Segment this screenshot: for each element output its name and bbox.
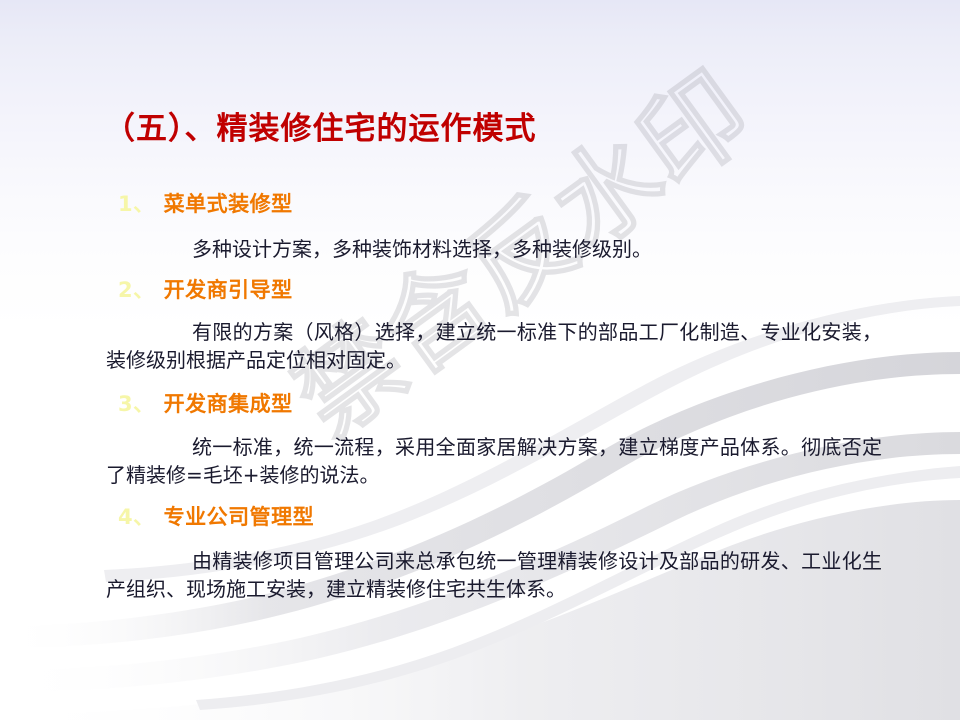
section-4-heading: 4、专业公司管理型	[0, 504, 960, 530]
section-1-body-block: 多种设计方案，多种装饰材料选择，多种装修级别。	[0, 235, 960, 263]
section-2-body-block: 有限的方案（风格）选择，建立统一标准下的部品工厂化制造、专业化安装，装修级别根据…	[0, 318, 960, 375]
section-2-heading-label: 开发商引导型	[164, 278, 293, 302]
section-1-number: 1、	[118, 192, 155, 216]
section-4-body-block: 由精装修项目管理公司来总承包统一管理精装修设计及部品的研发、工业化生产组织、现场…	[0, 547, 960, 604]
section-2-heading: 2、开发商引导型	[0, 277, 960, 303]
section-1-body: 多种设计方案，多种装饰材料选择，多种装修级别。	[0, 235, 960, 263]
section-3-number: 3、	[118, 392, 155, 416]
slide-content: （五）、精装修住宅的运作模式 1、菜单式装修型 多种设计方案，多种装饰材料选择，…	[0, 0, 960, 720]
section-3-body-block: 统一标准，统一流程，采用全面家居解决方案，建立梯度产品体系。彻底否定了精装修=毛…	[0, 433, 960, 490]
section-2: 2、开发商引导型	[0, 277, 960, 303]
section-3: 3、开发商集成型	[0, 391, 960, 417]
section-4: 4、专业公司管理型	[0, 504, 960, 530]
section-4-body: 由精装修项目管理公司来总承包统一管理精装修设计及部品的研发、工业化生产组织、现场…	[0, 547, 960, 604]
section-3-heading: 3、开发商集成型	[0, 391, 960, 417]
slide-canvas: 禁含反水印 （五）、精装修住宅的运作模式 1、菜单式装修型 多种设计方案，多种装…	[0, 0, 960, 720]
section-4-number: 4、	[118, 505, 155, 529]
section-1-heading-label: 菜单式装修型	[164, 192, 293, 216]
page-title: （五）、精装修住宅的运作模式	[104, 103, 537, 148]
section-3-heading-label: 开发商集成型	[164, 392, 293, 416]
section-2-number: 2、	[118, 278, 155, 302]
section-4-heading-label: 专业公司管理型	[164, 505, 315, 529]
section-2-body: 有限的方案（风格）选择，建立统一标准下的部品工厂化制造、专业化安装，装修级别根据…	[0, 318, 960, 375]
section-1: 1、菜单式装修型	[0, 191, 960, 217]
section-1-heading: 1、菜单式装修型	[0, 191, 960, 217]
section-3-body: 统一标准，统一流程，采用全面家居解决方案，建立梯度产品体系。彻底否定了精装修=毛…	[0, 433, 960, 490]
